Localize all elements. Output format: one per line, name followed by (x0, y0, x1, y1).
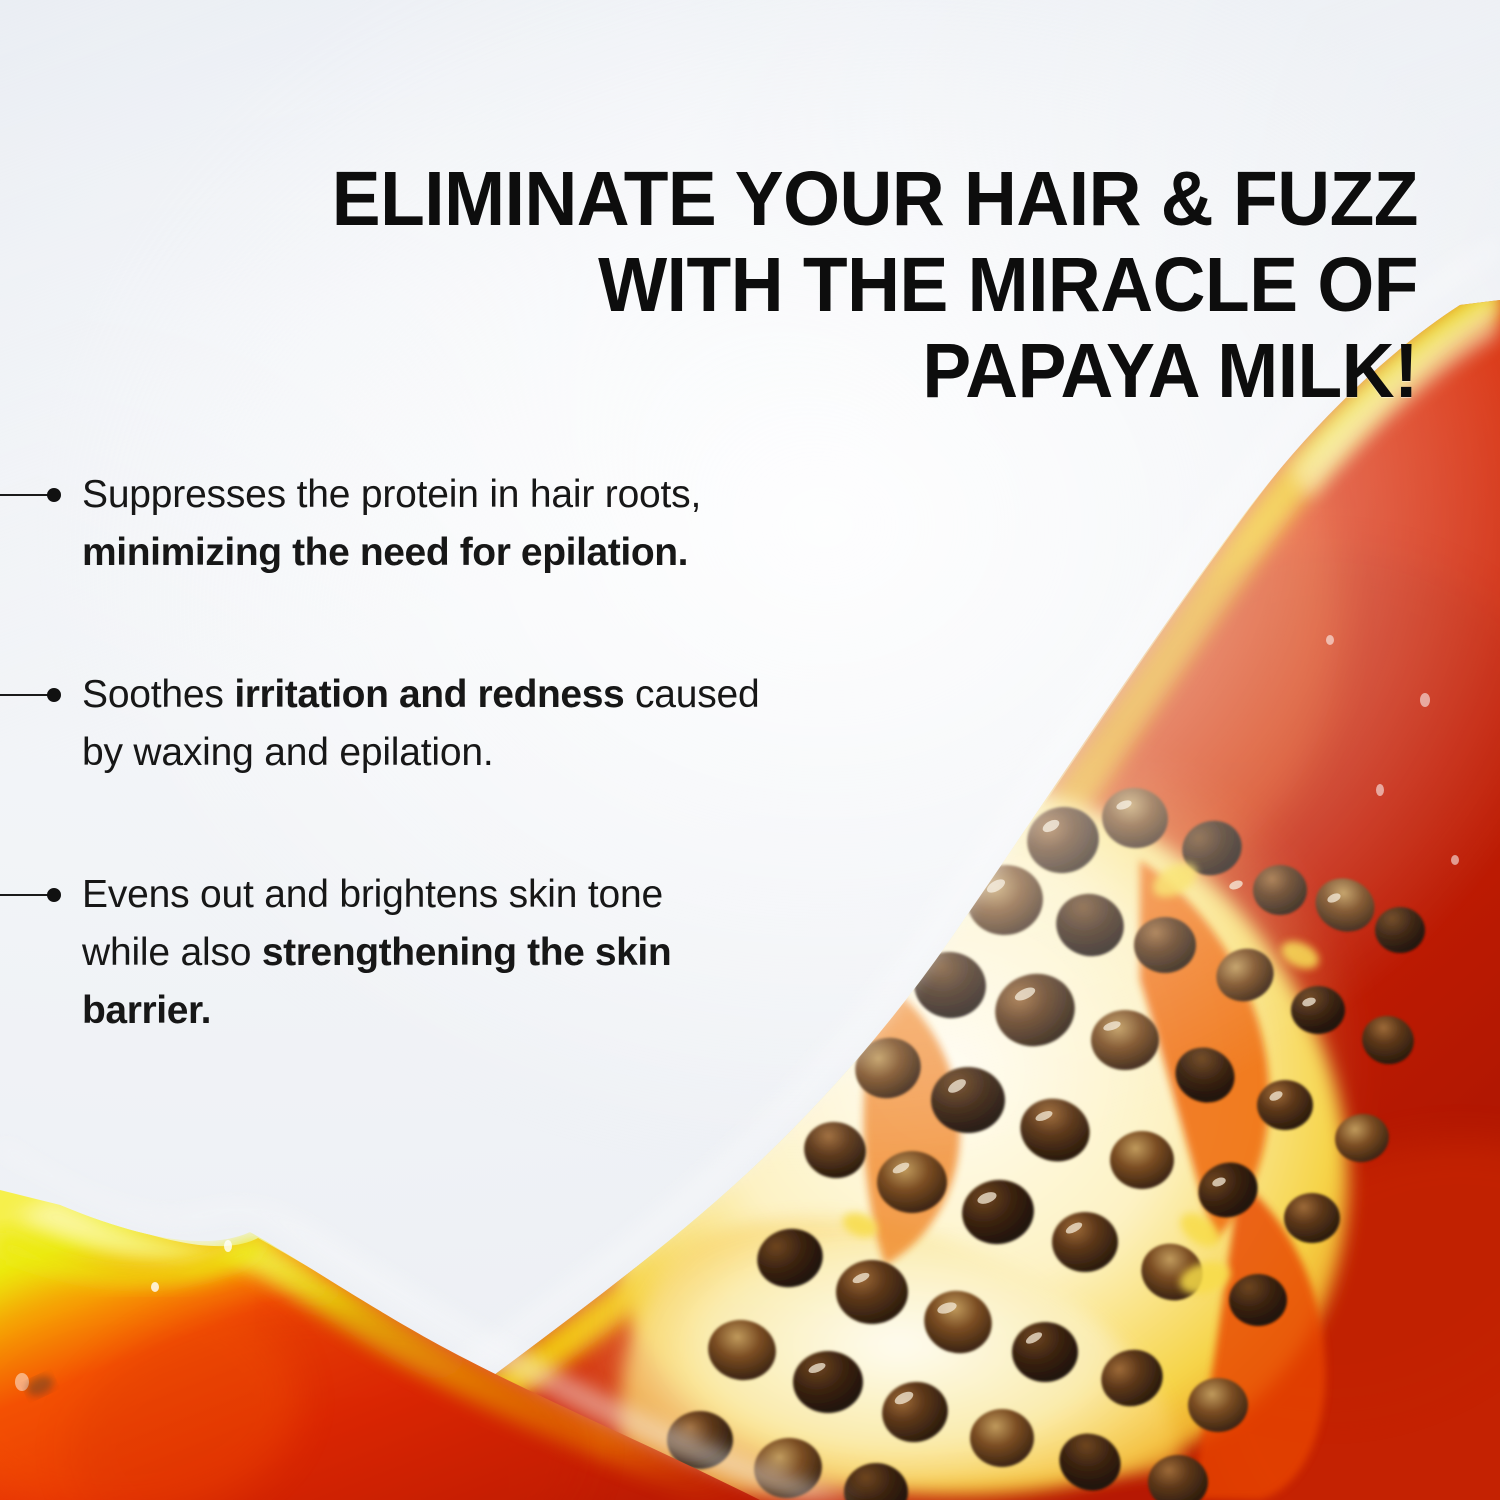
promo-graphic: ELIMINATE YOUR HAIR & FUZZ WITH THE MIRA… (0, 0, 1500, 1500)
marker-line (0, 494, 50, 496)
benefit-text-1: Suppresses the protein in hair roots, mi… (82, 466, 760, 582)
line-dot-marker-icon (0, 887, 64, 903)
headline: ELIMINATE YOUR HAIR & FUZZ WITH THE MIRA… (299, 156, 1418, 414)
benefit-text-2: Soothes irritation and redness caused by… (82, 666, 760, 782)
list-item: Soothes irritation and redness caused by… (0, 666, 760, 782)
benefit-text-3: Evens out and brightens skin tone while … (82, 866, 760, 1040)
list-item: Suppresses the protein in hair roots, mi… (0, 466, 760, 582)
marker-line (0, 894, 50, 896)
headline-line-2: WITH THE MIRACLE OF (299, 242, 1418, 328)
marker-dot (47, 688, 61, 702)
marker-dot (47, 888, 61, 902)
list-item: Evens out and brightens skin tone while … (0, 866, 760, 1040)
line-dot-marker-icon (0, 687, 64, 703)
headline-line-3: PAPAYA MILK! (299, 328, 1418, 414)
line-dot-marker-icon (0, 487, 64, 503)
marker-dot (47, 488, 61, 502)
headline-line-1: ELIMINATE YOUR HAIR & FUZZ (299, 156, 1418, 242)
marker-line (0, 694, 50, 696)
benefits-list: Suppresses the protein in hair roots, mi… (0, 466, 760, 1040)
